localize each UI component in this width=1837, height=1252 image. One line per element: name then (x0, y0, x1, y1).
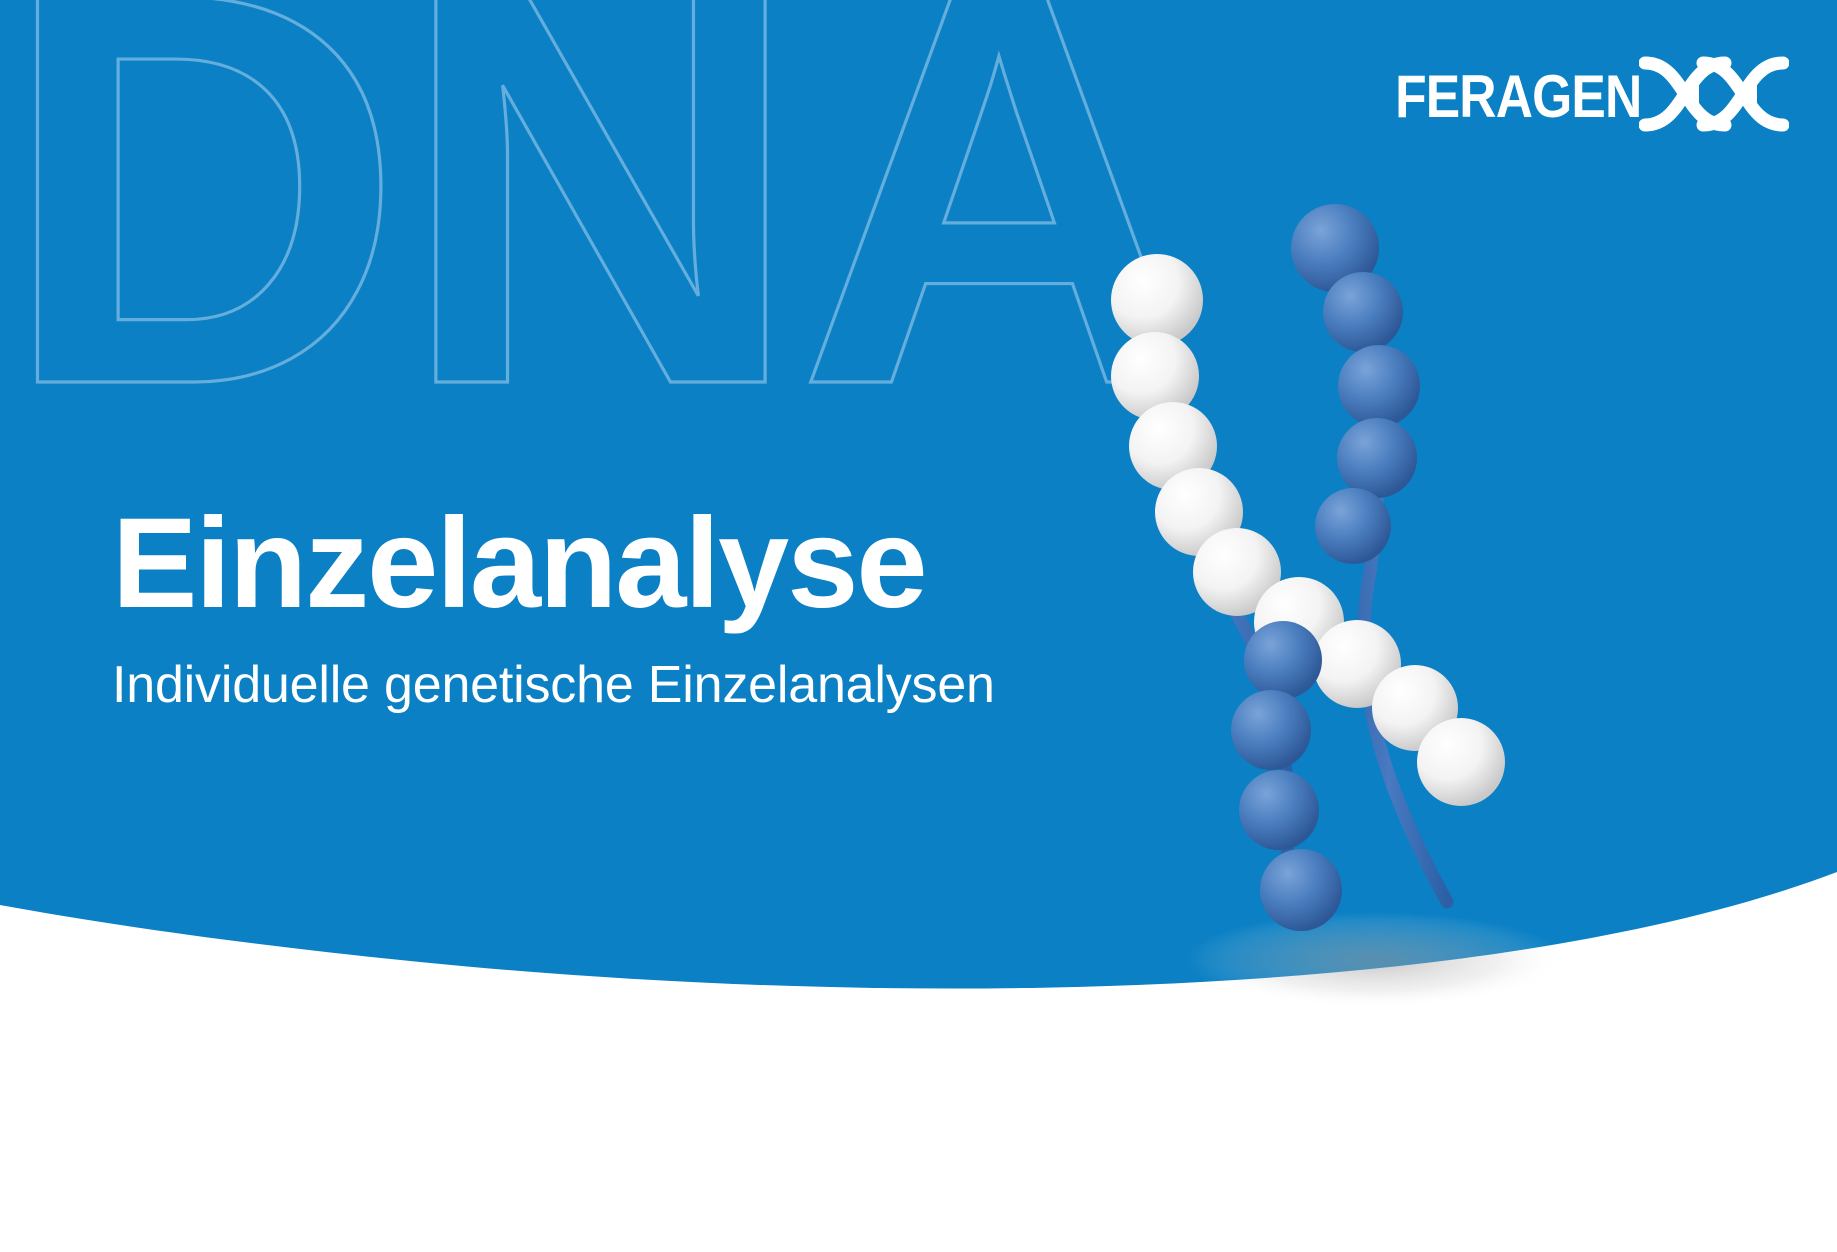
logo-wordmark: FERAGEN (1395, 67, 1641, 127)
feragen-logo[interactable]: FERAGEN (1355, 55, 1789, 138)
headline-block: Einzelanalyse Individuelle genetische Ei… (112, 496, 1162, 716)
page-subtitle: Individuelle genetische Einzelanalysen (112, 654, 1162, 716)
dna-analysis-banner: DNA FERAGEN Einzela (0, 0, 1837, 1252)
page-title: Einzelanalyse (112, 496, 1162, 632)
dna-helix-icon (1639, 55, 1789, 138)
